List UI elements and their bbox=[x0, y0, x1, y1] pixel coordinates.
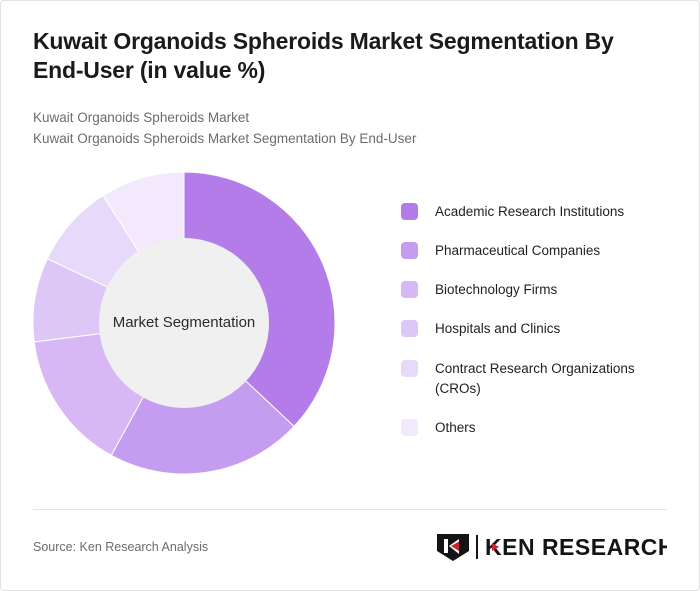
legend-swatch bbox=[401, 203, 418, 220]
subtitle-group: Kuwait Organoids Spheroids Market Kuwait… bbox=[33, 108, 667, 150]
chart-header: Kuwait Organoids Spheroids Market Segmen… bbox=[1, 1, 699, 150]
subtitle-secondary: Kuwait Organoids Spheroids Market Segmen… bbox=[33, 129, 667, 150]
legend-item[interactable]: Biotechnology Firms bbox=[401, 280, 667, 300]
donut-inner-circle bbox=[99, 238, 269, 408]
ken-research-logo: KEN RESEARCH bbox=[435, 531, 667, 563]
legend-swatch bbox=[401, 360, 418, 377]
legend-item[interactable]: Hospitals and Clinics bbox=[401, 319, 667, 339]
source-note: Source: Ken Research Analysis bbox=[33, 540, 208, 554]
donut-chart: Market Segmentation bbox=[33, 172, 345, 472]
chart-legend: Academic Research InstitutionsPharmaceut… bbox=[345, 172, 667, 439]
footer-divider bbox=[33, 509, 667, 510]
logo-wordmark: KEN RESEARCH bbox=[485, 534, 667, 560]
legend-item[interactable]: Pharmaceutical Companies bbox=[401, 241, 667, 261]
page-title: Kuwait Organoids Spheroids Market Segmen… bbox=[33, 27, 667, 86]
legend-label: Pharmaceutical Companies bbox=[435, 241, 600, 261]
svg-text:KEN RESEARCH: KEN RESEARCH bbox=[485, 534, 667, 560]
legend-swatch bbox=[401, 320, 418, 337]
donut-svg-container bbox=[33, 172, 335, 474]
legend-label: Academic Research Institutions bbox=[435, 202, 624, 222]
legend-item[interactable]: Others bbox=[401, 418, 667, 438]
logo-divider-bar bbox=[476, 535, 478, 559]
legend-item[interactable]: Academic Research Institutions bbox=[401, 202, 667, 222]
legend-label: Biotechnology Firms bbox=[435, 280, 557, 300]
subtitle-primary: Kuwait Organoids Spheroids Market bbox=[33, 108, 667, 129]
legend-label: Contract Research Organizations (CROs) bbox=[435, 359, 660, 400]
ken-research-logo-svg: KEN RESEARCH bbox=[435, 532, 667, 562]
legend-label: Hospitals and Clinics bbox=[435, 319, 560, 339]
chart-card: Kuwait Organoids Spheroids Market Segmen… bbox=[0, 0, 700, 591]
legend-swatch bbox=[401, 281, 418, 298]
chart-body: Market Segmentation Academic Research In… bbox=[1, 172, 699, 472]
legend-label: Others bbox=[435, 418, 476, 438]
legend-item[interactable]: Contract Research Organizations (CROs) bbox=[401, 359, 667, 400]
chart-footer: Source: Ken Research Analysis KEN RESEAR… bbox=[33, 527, 667, 567]
legend-swatch bbox=[401, 242, 418, 259]
legend-swatch bbox=[401, 419, 418, 436]
donut-slices bbox=[33, 172, 335, 474]
shield-k-icon bbox=[437, 534, 469, 561]
